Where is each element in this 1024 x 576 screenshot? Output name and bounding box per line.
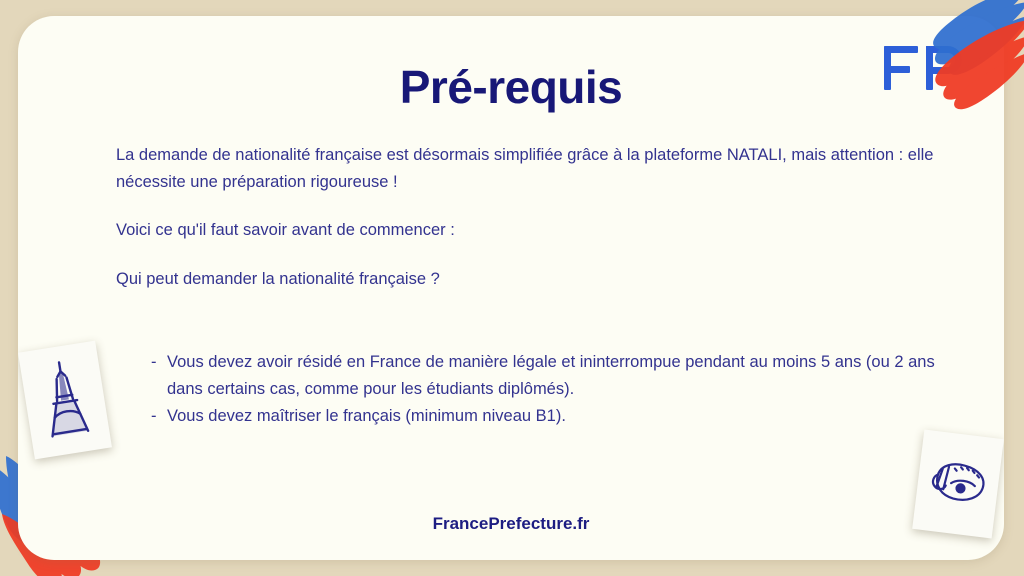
paragraph-question: Qui peut demander la nationalité françai… — [116, 266, 946, 293]
list-item: - Vous devez maîtriser le français (mini… — [133, 403, 963, 430]
list-item-text: Vous devez maîtriser le français (minimu… — [167, 403, 963, 430]
body-copy: La demande de nationalité française est … — [116, 142, 946, 315]
croissant-icon — [924, 453, 992, 514]
requirements-list: - Vous devez avoir résidé en France de m… — [133, 349, 963, 431]
list-item-text: Vous devez avoir résidé en France de man… — [167, 349, 963, 402]
fp-logo-icon — [882, 40, 964, 96]
list-item: - Vous devez avoir résidé en France de m… — [133, 349, 963, 402]
slide-card: Pré-requis La demande de nationalité fra… — [18, 16, 1004, 560]
bullet-dash-icon: - — [133, 349, 167, 376]
footer-website: FrancePrefecture.fr — [18, 514, 1004, 534]
paragraph-intro: La demande de nationalité française est … — [116, 142, 946, 195]
bullet-dash-icon: - — [133, 403, 167, 430]
page-title: Pré-requis — [18, 60, 1004, 114]
slide-canvas: Pré-requis La demande de nationalité fra… — [0, 0, 1024, 576]
paragraph-lead-in: Voici ce qu'il faut savoir avant de comm… — [116, 217, 946, 244]
photo-card-croissant — [912, 429, 1004, 538]
photo-card-eiffel-tower — [18, 341, 112, 460]
eiffel-tower-icon — [28, 352, 101, 448]
